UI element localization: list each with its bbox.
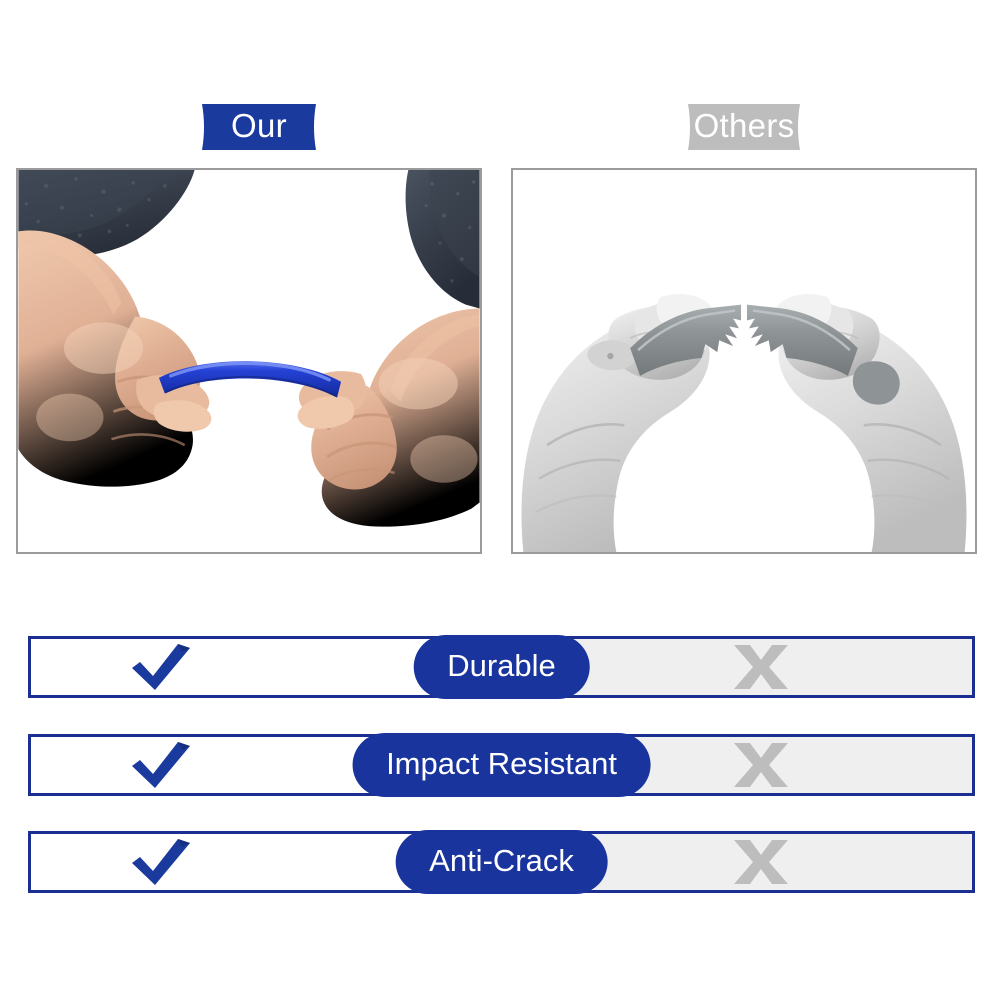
others-product-photo	[513, 170, 975, 552]
feature-label: Impact Resistant	[386, 748, 617, 782]
cross-icon	[732, 643, 790, 691]
our-photo-panel	[16, 168, 482, 554]
others-badge-label: Others	[694, 109, 795, 145]
feature-pill: Impact Resistant	[352, 733, 651, 797]
check-icon	[130, 741, 192, 789]
our-badge-label: Our	[231, 109, 287, 145]
check-icon	[130, 838, 192, 886]
cross-icon	[732, 741, 790, 789]
cross-icon	[732, 838, 790, 886]
feature-bar: Durable	[28, 636, 975, 698]
comparison-infographic: Our Others	[0, 0, 1000, 1000]
others-photo-panel	[511, 168, 977, 554]
our-badge: Our	[198, 102, 320, 152]
others-badge: Others	[684, 102, 804, 152]
feature-bar: Anti-Crack	[28, 831, 975, 893]
feature-label: Anti-Crack	[429, 845, 574, 879]
feature-pill: Durable	[413, 635, 590, 699]
feature-label: Durable	[447, 650, 556, 684]
check-icon	[130, 643, 192, 691]
feature-bar: Impact Resistant	[28, 734, 975, 796]
feature-pill: Anti-Crack	[395, 830, 608, 894]
our-product-photo	[18, 170, 480, 552]
